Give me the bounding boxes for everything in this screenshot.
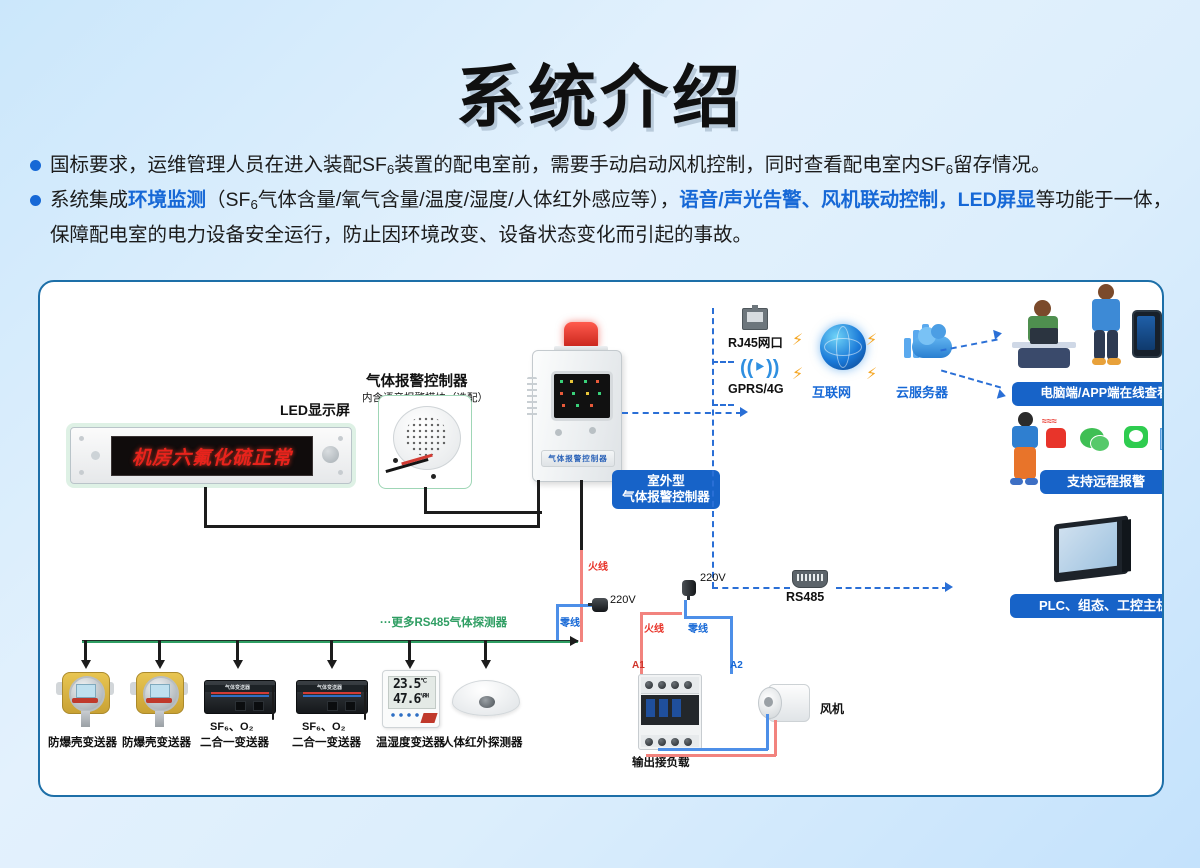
remote-alarm-badge: 支持远程报警 (1040, 470, 1164, 494)
sms-icon (1124, 426, 1148, 448)
cable-2 (364, 686, 366, 720)
rs485-connector-icon (792, 570, 828, 588)
sf6-subscript-2: 6 (946, 162, 953, 177)
voltage-label-1: 220V (610, 594, 636, 606)
th-lcd-screen: 23.5℃ 47.6%RH (388, 676, 436, 709)
wire-fan-live (646, 754, 776, 757)
alarm-ray-icon: ≈≈≈ (1042, 416, 1057, 426)
dash-ctrl-to-net (622, 412, 742, 414)
led-knob-icon (322, 446, 339, 463)
led-screen: 机房六氟化硫正常 (111, 436, 313, 476)
intro-highlight-env-monitor: 环境监测 (128, 189, 206, 211)
dash-to-rs485 (712, 587, 790, 589)
led-screen-text: 机房六氟化硫正常 (132, 443, 292, 470)
device-label-5: 温湿度变送器 (376, 734, 445, 750)
intro-text-block: 国标要求，运维管理人员在进入装配SF6装置的配电室前，需要手动启动风机控制，同时… (30, 150, 1180, 251)
internet-globe-icon (820, 324, 866, 370)
intro-b1-part-a: 国标要求，运维管理人员在进入装配SF (50, 154, 387, 176)
terminal-a1-label: A1 (632, 660, 645, 671)
wifi-antenna-icon: ((‣)) (740, 356, 770, 380)
alarm-bell-icon (1046, 428, 1066, 448)
dash-gprs-stub (712, 404, 734, 406)
cloud-server-icon (902, 324, 954, 358)
wire-speaker-right (424, 511, 542, 514)
wire-fan-neutral (658, 748, 768, 751)
outdoor-controller-badge: 室外型 气体报警控制器 (612, 470, 720, 509)
smartphone-screen (1137, 316, 1155, 350)
voltage-label-2: 220V (700, 572, 726, 584)
device-label-6: 人体红外探测器 (442, 734, 523, 750)
gprs-label: GPRS/4G (728, 382, 784, 396)
neutral-wire-label-2: 零线 (688, 620, 708, 635)
dash-arrow-rs485 (945, 582, 953, 592)
power-plug-icon-2 (682, 578, 696, 600)
pir-lens-icon (479, 696, 495, 708)
dash-vertical-net (712, 308, 714, 588)
cloud-server-label: 云服务器 (896, 382, 948, 401)
wire-neutral-main (556, 606, 559, 642)
cable-1 (272, 686, 274, 720)
sensor-bus-arrow (570, 636, 579, 646)
dash-arrow-1 (740, 407, 748, 417)
neutral-wire-label-1: 零线 (560, 614, 580, 629)
live-wire-label-2: 火线 (644, 620, 664, 635)
alarm-beacon-icon (564, 322, 598, 348)
controller-title-label: 气体报警控制器 (366, 370, 468, 391)
intro-b2-part-b: （SF (206, 189, 250, 211)
diagram-canvas: LED显示屏 机房六氟化硫正常 气体报警控制器 内含语音报警模块（选配） (40, 282, 1162, 795)
wire-speaker-down (424, 487, 427, 513)
more-sensors-label: ···更多RS485气体探测器 (380, 614, 507, 630)
device-label-1: 防爆壳变送器 (48, 734, 117, 750)
device-label-3b: 二合一变送器 (200, 734, 269, 750)
dash-rs485-right (836, 587, 948, 589)
rs485-label: RS485 (786, 590, 824, 604)
wire-live-main (580, 550, 583, 642)
device-label-4a: SF₆、O₂ (302, 718, 346, 734)
wechat-icon (1080, 428, 1104, 448)
speaker-mesh-icon (405, 416, 447, 456)
voice-alarm-speaker-module (378, 395, 472, 489)
device-label-3a: SF₆、O₂ (210, 718, 254, 734)
rj45-icon (742, 308, 768, 330)
intro-b2-part-a: 系统集成 (50, 189, 128, 211)
controller-button-1[interactable] (555, 429, 562, 436)
system-diagram-panel: LED显示屏 机房六氟化硫正常 气体报警控制器 内含语音报警模块（选配） (38, 280, 1164, 797)
page-root: 系统介绍 国标要求，运维管理人员在进入装配SF6装置的配电室前，需要手动启动风机… (0, 0, 1200, 868)
controller-button-2[interactable] (589, 427, 596, 434)
wire-controller-left-down (537, 480, 540, 527)
plc-badge: PLC、组态、工控主机 (1010, 594, 1164, 618)
device-sf6-o2-transmitter-2: 气体变送器 (296, 680, 368, 714)
intro-b1-part-b: 装置的配电室前，需要手动启动风机控制，同时查看配电室内SF (394, 154, 945, 176)
power-plug-icon-1 (588, 598, 610, 612)
device-sf6-o2-transmitter-1: 气体变送器 (204, 680, 276, 714)
rj45-label: RJ45网口 (728, 332, 783, 351)
pc-app-badge: 电脑端/APP端在线查看 (1012, 382, 1164, 406)
dash-rj45-stub (712, 361, 734, 363)
device-pir-detector (452, 680, 520, 716)
controller-vent-icon (527, 377, 537, 417)
led-display-label: LED显示屏 (280, 400, 350, 420)
intro-highlight-features: 语音/声光告警、风机联动控制，LED屏显 (679, 189, 1035, 211)
intro-bullet-1: 国标要求，运维管理人员在进入装配SF6装置的配电室前，需要手动启动风机控制，同时… (30, 150, 1180, 185)
hmi-panel-icon (1054, 515, 1128, 582)
dash-cloud-to-mobile (941, 369, 1001, 388)
dash-arrow-mobile (997, 389, 1007, 401)
wire-led-right (204, 525, 540, 528)
page-title: 系统介绍 (0, 42, 1200, 141)
ac-contactor-device (638, 674, 702, 750)
smartphone-icon (1132, 310, 1162, 358)
fan-label: 风机 (820, 700, 844, 717)
bullet-dot-icon-2 (30, 195, 41, 206)
gas-alarm-controller-device: 气体报警控制器 (532, 350, 622, 482)
wire-led-down (204, 487, 207, 527)
outdoor-badge-line2: 气体报警控制器 (622, 490, 710, 504)
controller-nameplate: 气体报警控制器 (541, 450, 615, 467)
device-label-4b: 二合一变送器 (292, 734, 361, 750)
terminal-a2-label: A2 (730, 660, 743, 671)
intro-b1-part-c: 留存情况。 (953, 154, 1051, 176)
controller-screen (551, 371, 613, 421)
email-icon (1160, 428, 1164, 450)
intro-bullet-2: 系统集成环境监测（SF6气体含量/氧气含量/温度/湿度/人体红外感应等），语音/… (30, 185, 1180, 251)
th-temperature-value: 23.5℃ (393, 677, 426, 692)
live-wire-label-1: 火线 (588, 558, 608, 573)
intro-b2-part-c: 气体含量/氧气含量/温度/湿度/人体红外感应等）， (258, 189, 679, 211)
internet-label: 互联网 (812, 382, 851, 401)
th-humidity-value: 47.6%RH (393, 692, 428, 707)
bullet-dot-icon (30, 160, 41, 171)
sf6-subscript-3: 6 (250, 197, 257, 212)
hmi-screen (1059, 522, 1117, 573)
dash-arrow-pc (993, 328, 1003, 339)
device-label-2: 防爆壳变送器 (122, 734, 191, 750)
led-display-device: 机房六氟化硫正常 (70, 427, 352, 484)
outdoor-badge-line1: 室外型 (647, 474, 685, 488)
device-temp-humidity-transmitter: 23.5℃ 47.6%RH (382, 670, 440, 728)
